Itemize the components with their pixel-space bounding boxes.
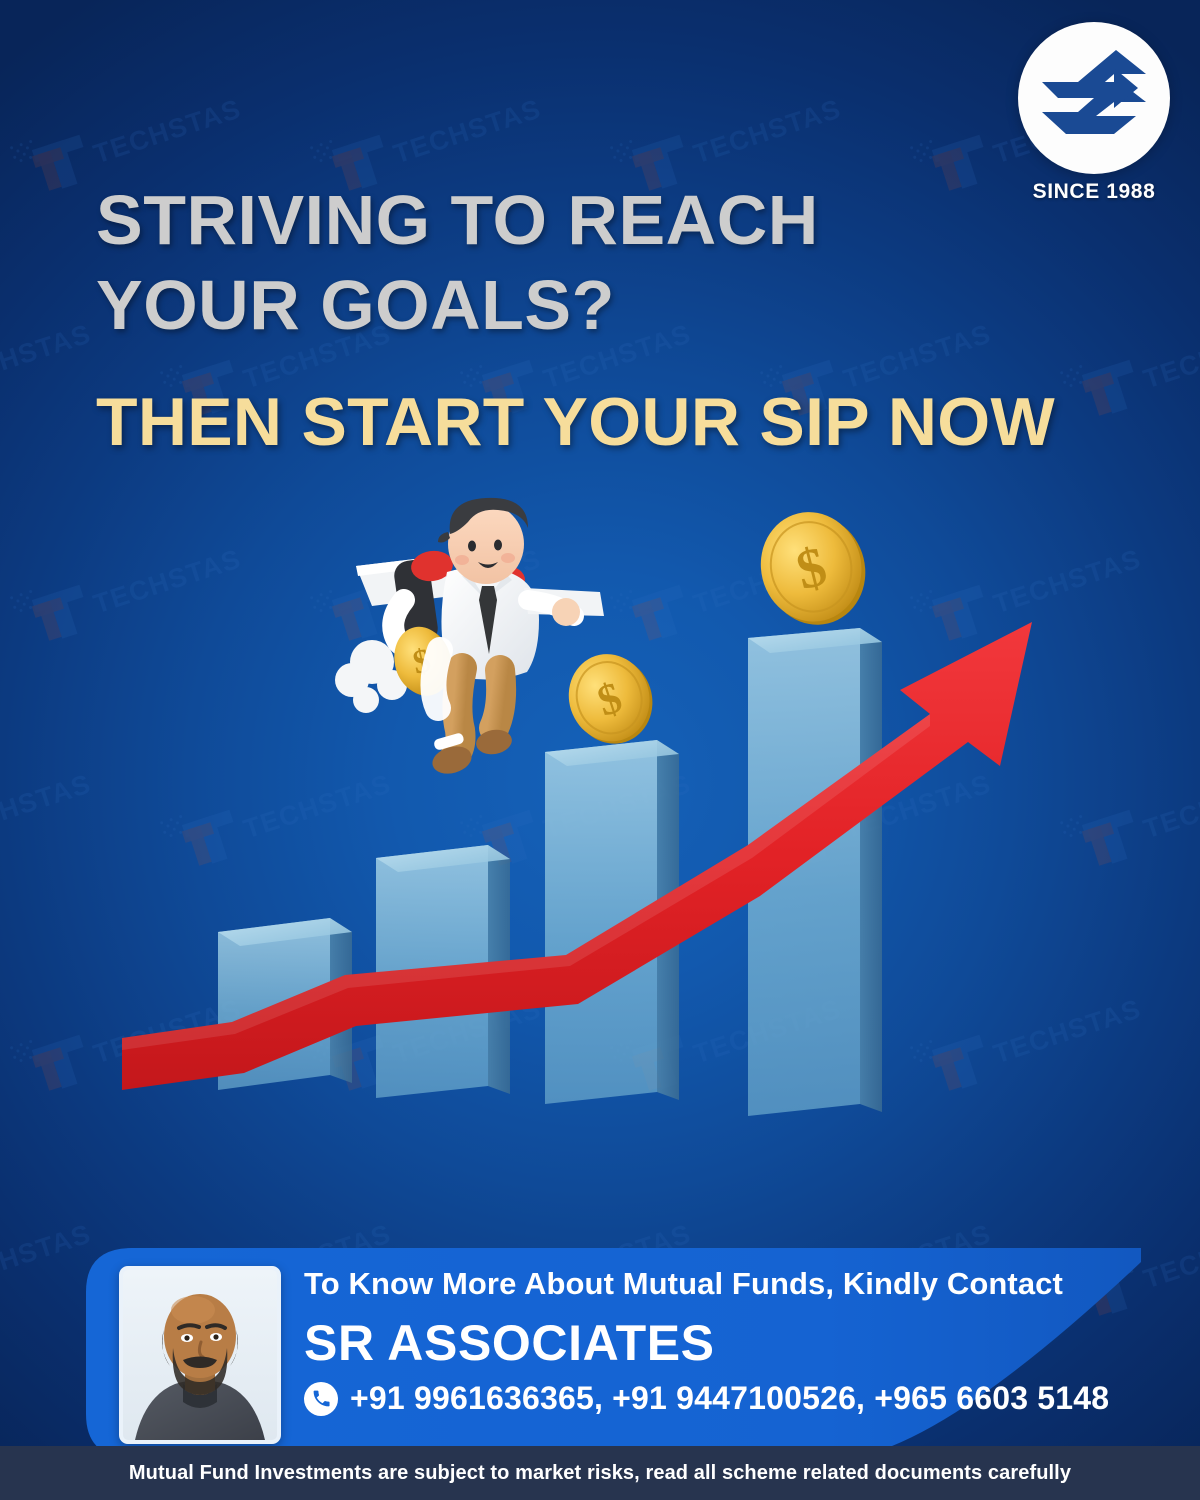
watermark-label: TECHSTAS	[990, 543, 1145, 620]
watermark-t-icon	[476, 798, 545, 870]
growth-arrow-icon	[122, 622, 1032, 1090]
sip-promo-poster: TECHSTASTECHSTASTECHSTASTECHSTASTECHSTAS…	[0, 0, 1200, 1500]
watermark-label: TECHSTAS	[690, 93, 845, 170]
watermark-techstas: TECHSTAS	[326, 973, 547, 1094]
watermark-techstas: TECHSTAS	[26, 523, 247, 644]
jetpack-smoke	[335, 640, 427, 713]
watermark-techstas: TECHSTAS	[926, 523, 1147, 644]
headline-line-2: YOUR GOALS?	[96, 263, 1055, 348]
watermark-techstas: TECHSTAS	[776, 748, 997, 869]
businessman-jetpack-character: $	[335, 498, 604, 778]
watermark-t-icon	[176, 798, 245, 870]
watermark-t-icon	[626, 1023, 695, 1095]
watermark-label: TECHSTAS	[90, 543, 245, 620]
watermark-techstas: TECHSTAS	[0, 748, 97, 869]
watermark-label: TECHSTAS	[0, 768, 95, 845]
contact-intro-text: To Know More About Mutual Funds, Kindly …	[304, 1266, 1104, 1302]
watermark-t-icon	[326, 573, 395, 645]
watermark-t-icon	[776, 798, 845, 870]
svg-text:$: $	[592, 672, 628, 725]
headline-line-1: STRIVING TO REACH	[96, 178, 1055, 263]
watermark-techstas: TECHSTAS	[626, 973, 847, 1094]
watermark-label: TECHSTAS	[390, 993, 545, 1070]
watermark-t-icon	[926, 573, 995, 645]
disclaimer-text: Mutual Fund Investments are subject to m…	[129, 1462, 1071, 1485]
watermark-label: TECHSTAS	[1140, 318, 1200, 395]
watermark-t-icon	[1076, 348, 1145, 420]
watermark-t-icon	[326, 1023, 395, 1095]
since-label: SINCE 1988	[1010, 180, 1178, 204]
watermark-techstas: TECHSTAS	[26, 973, 247, 1094]
watermark-techstas: TECHSTAS	[626, 73, 847, 194]
watermark-label: TECHSTAS	[540, 768, 695, 845]
watermark-techstas: TECHSTAS	[0, 1198, 97, 1319]
phone-icon[interactable]	[304, 1382, 338, 1416]
headline-block: STRIVING TO REACH YOUR GOALS? THEN START…	[96, 178, 1055, 461]
watermark-label: TECHSTAS	[90, 993, 245, 1070]
watermark-label: TECHSTAS	[1140, 1218, 1200, 1295]
company-name: SR ASSOCIATES	[304, 1314, 1104, 1372]
disclaimer-bar: Mutual Fund Investments are subject to m…	[0, 1446, 1200, 1500]
gold-coin-large: $	[749, 501, 877, 637]
watermark-label: TECHSTAS	[90, 93, 245, 170]
watermark-label: TECHSTAS	[0, 318, 95, 395]
watermark-t-icon	[26, 573, 95, 645]
watermark-label: TECHSTAS	[240, 768, 395, 845]
bar-1	[218, 918, 352, 1090]
watermark-label: TECHSTAS	[690, 993, 845, 1070]
watermark-label: TECHSTAS	[990, 993, 1145, 1070]
brand-logo: SINCE 1988	[1010, 22, 1178, 204]
watermark-techstas: TECHSTAS	[926, 973, 1147, 1094]
watermark-label: TECHSTAS	[390, 543, 545, 620]
watermark-t-icon	[26, 1023, 95, 1095]
logo-monogram-icon	[1018, 22, 1170, 174]
watermark-label: TECHSTAS	[690, 543, 845, 620]
watermark-techstas: TECHSTAS	[326, 73, 547, 194]
contact-text-block: To Know More About Mutual Funds, Kindly …	[304, 1266, 1104, 1417]
watermark-t-icon	[26, 123, 95, 195]
phone-numbers[interactable]: +91 9961636365, +91 9447100526, +965 660…	[350, 1380, 1109, 1417]
bar-2	[376, 845, 510, 1098]
watermark-label: TECHSTAS	[1140, 768, 1200, 845]
svg-text:$: $	[791, 535, 833, 602]
watermark-t-icon	[926, 1023, 995, 1095]
watermark-techstas: TECHSTAS	[26, 73, 247, 194]
bar-3	[545, 740, 679, 1104]
watermark-t-icon	[1076, 798, 1145, 870]
watermark-techstas: TECHSTAS	[476, 748, 697, 869]
bar-4	[748, 628, 882, 1116]
advisor-photo	[119, 1266, 281, 1444]
contact-bar: To Know More About Mutual Funds, Kindly …	[86, 1248, 1141, 1458]
watermark-techstas: TECHSTAS	[626, 523, 847, 644]
watermark-t-icon	[626, 573, 695, 645]
headline-line-3: THEN START YOUR SIP NOW	[96, 383, 1055, 461]
watermark-label: TECHSTAS	[840, 768, 995, 845]
watermark-label: TECHSTAS	[0, 1218, 95, 1295]
watermark-techstas: TECHSTAS	[0, 298, 97, 419]
watermark-label: TECHSTAS	[390, 93, 545, 170]
watermark-techstas: TECHSTAS	[326, 523, 547, 644]
watermark-techstas: TECHSTAS	[1076, 298, 1200, 419]
svg-text:$: $	[410, 642, 434, 682]
watermark-techstas: TECHSTAS	[176, 748, 397, 869]
watermark-techstas: TECHSTAS	[1076, 748, 1200, 869]
gold-coin-small: $	[558, 643, 664, 755]
